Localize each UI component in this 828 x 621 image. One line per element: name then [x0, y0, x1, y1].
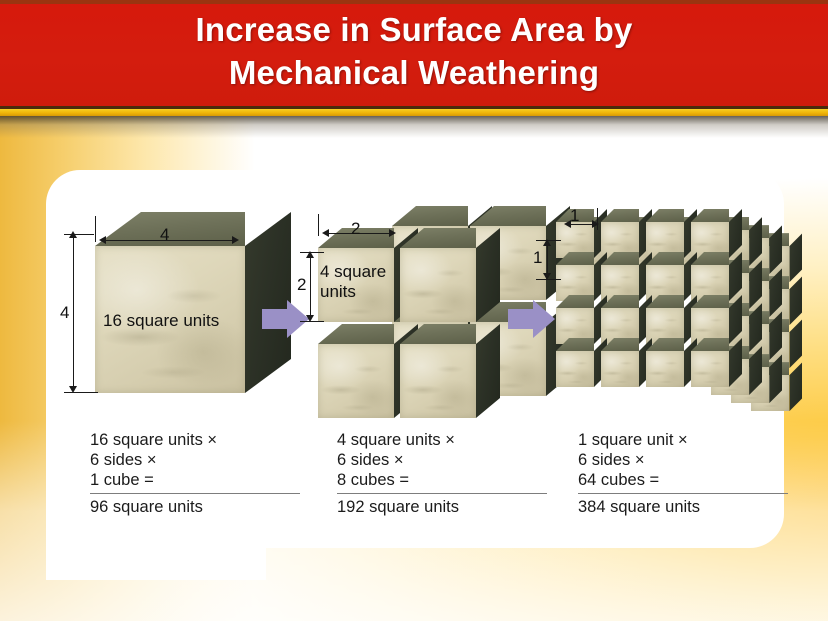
arrow-two-to-three-icon	[508, 300, 556, 338]
dimension-label-top-stage-two: 2	[351, 219, 360, 239]
caption-one-total: 96 square units	[90, 497, 300, 517]
caption-two-line2: 6 sides ×	[337, 450, 547, 470]
dimension-label-left-stage-two: 2	[297, 275, 306, 295]
caption-stage-three: 1 square unit × 6 sides × 64 cubes = 384…	[578, 430, 788, 517]
caption-one-rule	[90, 493, 300, 494]
caption-one-line2: 6 sides ×	[90, 450, 300, 470]
arrow-one-to-two-icon	[262, 300, 310, 338]
caption-two-line3: 8 cubes =	[337, 470, 547, 490]
face-label-stage-one: 16 square units	[103, 311, 219, 331]
caption-three-line3: 64 cubes =	[578, 470, 788, 490]
caption-two-rule	[337, 493, 547, 494]
caption-two-total: 192 square units	[337, 497, 547, 517]
caption-stage-two: 4 square units × 6 sides × 8 cubes = 192…	[337, 430, 547, 517]
face-label-stage-two: 4 square units	[320, 262, 400, 302]
face-label-stage-two-line1: 4 square	[320, 262, 400, 282]
dimension-label-top-stage-three: 1	[570, 206, 579, 226]
dimension-label-top-stage-one: 4	[160, 225, 169, 245]
diagram-stage: 4 4 16 square units	[0, 0, 828, 621]
caption-three-line1: 1 square unit ×	[578, 430, 788, 450]
caption-three-line2: 6 sides ×	[578, 450, 788, 470]
dimension-label-left-stage-three: 1	[533, 248, 542, 268]
caption-two-line1: 4 square units ×	[337, 430, 547, 450]
face-label-stage-two-line2: units	[320, 282, 400, 302]
caption-one-line1: 16 square units ×	[90, 430, 300, 450]
dimension-label-left-stage-one: 4	[60, 303, 69, 323]
caption-one-line3: 1 cube =	[90, 470, 300, 490]
caption-three-rule	[578, 493, 788, 494]
caption-three-total: 384 square units	[578, 497, 788, 517]
slide: Increase in Surface Area by Mechanical W…	[0, 0, 828, 621]
caption-stage-one: 16 square units × 6 sides × 1 cube = 96 …	[90, 430, 300, 517]
